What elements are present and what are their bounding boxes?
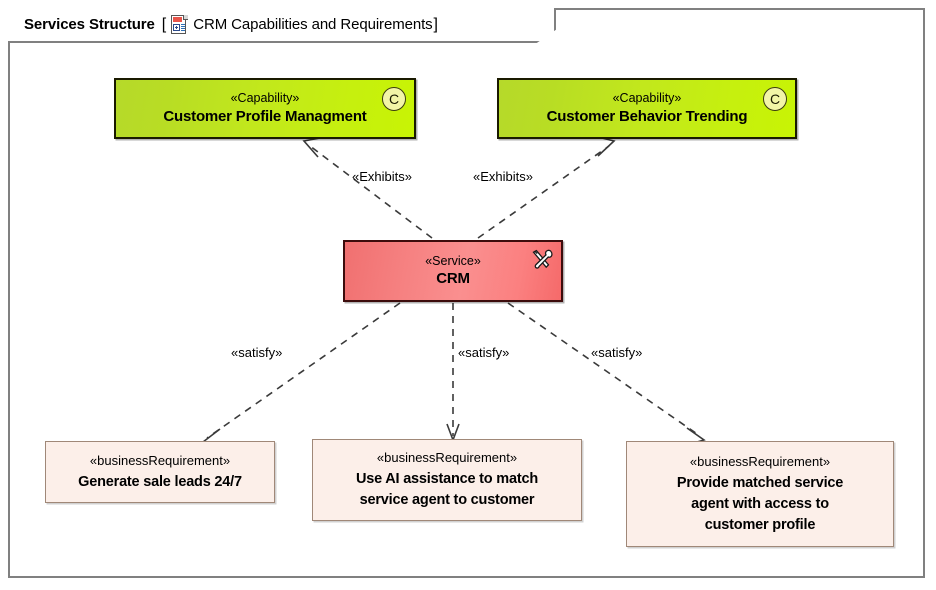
tools-icon: [530, 248, 554, 272]
node-stereotype: «businessRequirement»: [90, 452, 230, 472]
node-capability-customer-profile-management[interactable]: «Capability» Customer Profile Managment …: [114, 78, 416, 139]
node-requirement-ai-assistance-match[interactable]: «businessRequirement» Use AI assistance …: [312, 439, 582, 521]
edge-label-exhibits-right: «Exhibits»: [473, 169, 533, 184]
node-name: Customer Profile Managment: [163, 107, 366, 126]
node-stereotype: «businessRequirement»: [377, 449, 517, 469]
node-stereotype: «businessRequirement»: [690, 453, 830, 473]
bracket-close: ]: [434, 16, 438, 34]
node-service-crm[interactable]: «Service» CRM: [343, 240, 563, 302]
edge-label-satisfy-middle: «satisfy»: [458, 345, 509, 360]
node-requirement-provide-matched-agent[interactable]: «businessRequirement» Provide matched se…: [626, 441, 894, 547]
node-name-line-1: Provide matched service: [677, 473, 843, 494]
node-name: Customer Behavior Trending: [547, 107, 748, 126]
node-stereotype: «Capability»: [613, 91, 682, 107]
edge-label-satisfy-right: «satisfy»: [591, 345, 642, 360]
bracket-open: [: [162, 16, 166, 34]
node-name-line-2: service agent to customer: [360, 490, 535, 511]
diagram-document-icon: [171, 15, 188, 35]
node-capability-customer-behavior-trending[interactable]: «Capability» Customer Behavior Trending …: [497, 78, 797, 139]
edge-label-exhibits-left: «Exhibits»: [352, 169, 412, 184]
diagram-name: CRM Capabilities and Requirements: [193, 16, 432, 33]
node-name-line-2: agent with access to: [691, 494, 829, 515]
node-name-line-3: customer profile: [705, 515, 815, 536]
node-name: CRM: [436, 269, 470, 288]
page-title: Services Structure: [24, 16, 155, 33]
node-name: Generate sale leads 24/7: [78, 472, 242, 493]
node-stereotype: «Capability»: [231, 91, 300, 107]
node-name-line-1: Use AI assistance to match: [356, 469, 538, 490]
capability-badge-icon: C: [382, 87, 406, 111]
node-requirement-generate-sale-leads[interactable]: «businessRequirement» Generate sale lead…: [45, 441, 275, 503]
capability-badge-icon: C: [763, 87, 787, 111]
edge-label-satisfy-left: «satisfy»: [231, 345, 282, 360]
node-stereotype: «Service»: [425, 254, 481, 269]
diagram-frame-tab[interactable]: Services Structure [ CRM Capabilities an…: [8, 8, 556, 43]
